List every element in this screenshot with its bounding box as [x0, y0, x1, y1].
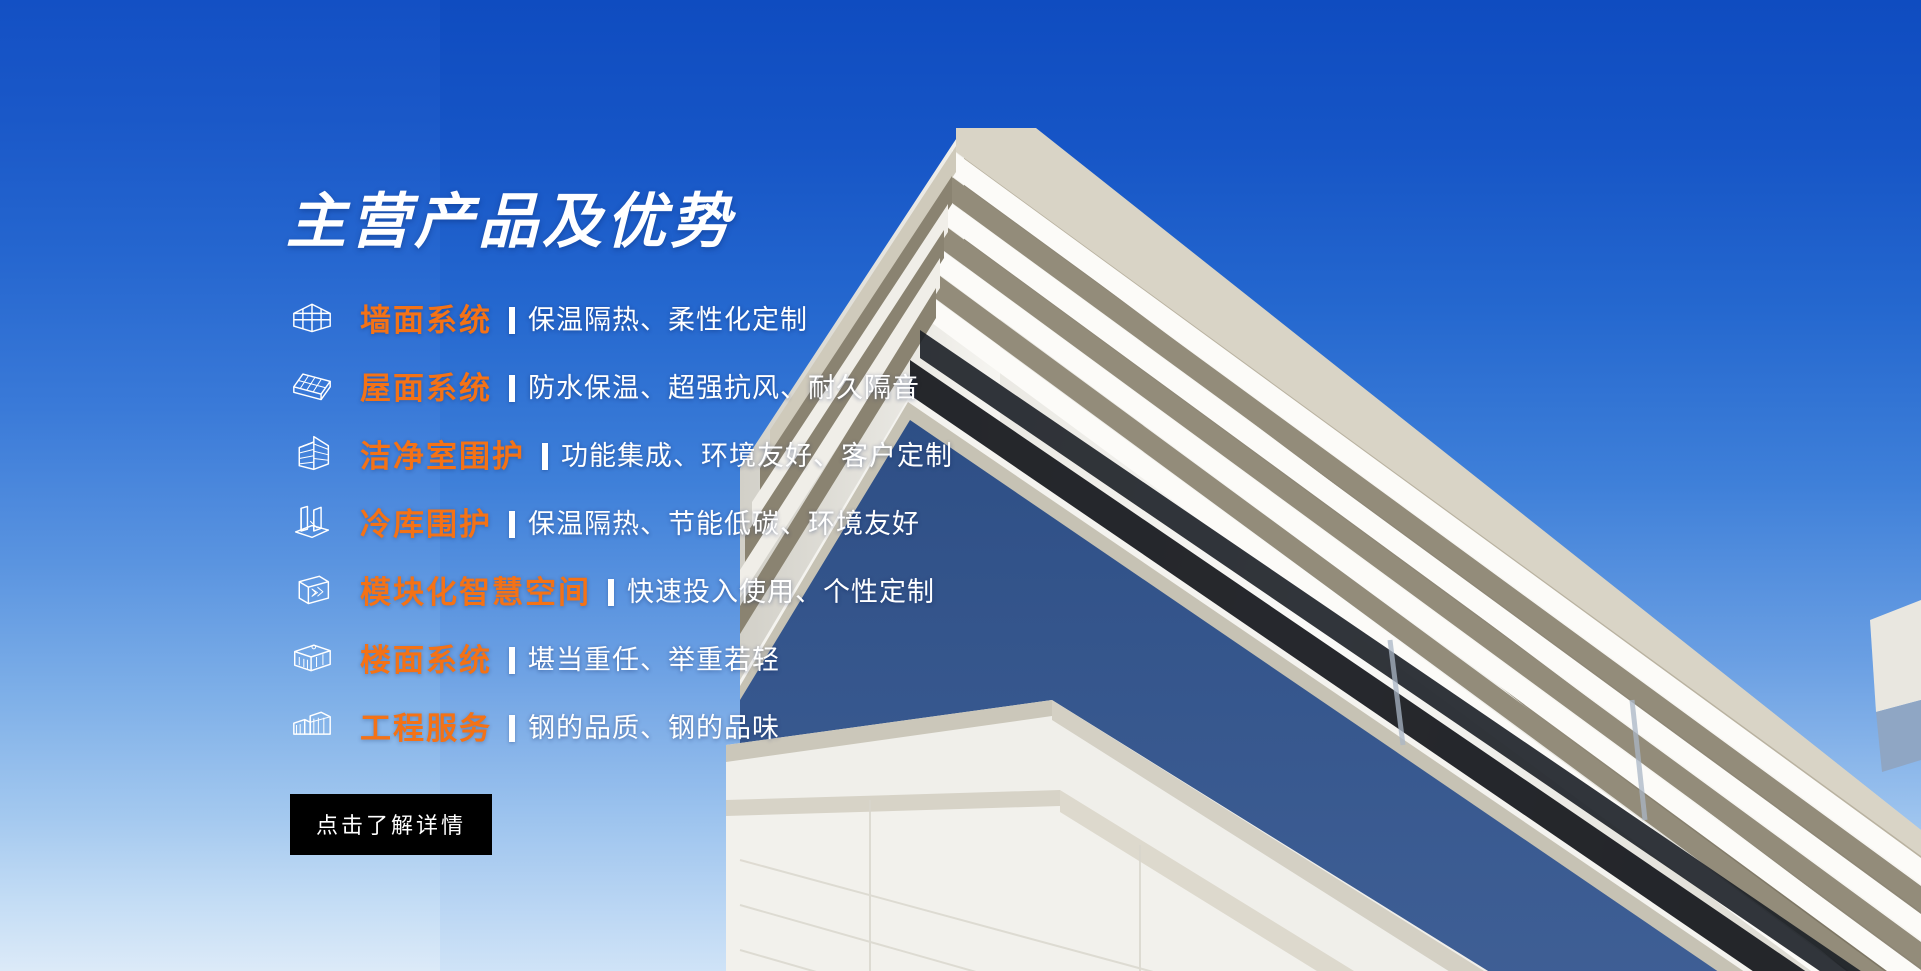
- hero-banner: 主营产品及优势 墙面系统 保温隔热、柔性化定制: [0, 0, 1921, 971]
- learn-more-button[interactable]: 点击了解详情: [290, 794, 492, 855]
- separator-bar: [509, 647, 515, 674]
- separator-bar: [509, 715, 515, 742]
- product-row-wall-system[interactable]: 墙面系统 保温隔热、柔性化定制: [286, 283, 1206, 351]
- product-list: 墙面系统 保温隔热、柔性化定制 屋面系统: [286, 283, 1206, 759]
- roof-panel-icon: [286, 362, 338, 408]
- product-description: 快速投入使用、个性定制: [627, 570, 935, 609]
- product-category: 墙面系统: [360, 295, 492, 340]
- separator-bar: [509, 511, 515, 538]
- product-category: 冷库围护: [360, 499, 492, 544]
- separator-bar: [542, 443, 548, 470]
- product-description: 保温隔热、柔性化定制: [528, 298, 808, 337]
- product-category: 楼面系统: [360, 635, 492, 680]
- product-category: 工程服务: [360, 703, 492, 748]
- modular-cube-icon: [286, 566, 338, 612]
- product-row-modular-space[interactable]: 模块化智慧空间 快速投入使用、个性定制: [286, 555, 1206, 623]
- page-title: 主营产品及优势: [286, 190, 1206, 253]
- separator-bar: [608, 579, 614, 606]
- separator-bar: [509, 307, 515, 334]
- product-row-engineering-service[interactable]: 工程服务 钢的品质、钢的品味: [286, 691, 1206, 759]
- product-description: 堪当重任、举重若轻: [528, 638, 780, 677]
- product-description: 功能集成、环境友好、客户定制: [561, 434, 953, 473]
- cold-storage-panels-icon: [286, 498, 338, 544]
- product-description: 防水保温、超强抗风、耐久隔音: [528, 366, 920, 405]
- hero-content: 主营产品及优势 墙面系统 保温隔热、柔性化定制: [286, 190, 1206, 855]
- cleanroom-building-icon: [286, 430, 338, 476]
- product-row-cold-storage[interactable]: 冷库围护 保温隔热、节能低碳、环境友好: [286, 487, 1206, 555]
- product-row-roof-system[interactable]: 屋面系统 防水保温、超强抗风、耐久隔音: [286, 351, 1206, 419]
- factory-complex-icon: [286, 702, 338, 748]
- product-description: 钢的品质、钢的品味: [528, 706, 780, 745]
- product-category: 屋面系统: [360, 363, 492, 408]
- floor-deck-box-icon: [286, 634, 338, 680]
- product-description: 保温隔热、节能低碳、环境友好: [528, 502, 920, 541]
- separator-bar: [509, 375, 515, 402]
- product-category: 模块化智慧空间: [360, 567, 591, 612]
- product-row-floor-system[interactable]: 楼面系统 堪当重任、举重若轻: [286, 623, 1206, 691]
- product-row-cleanroom[interactable]: 洁净室围护 功能集成、环境友好、客户定制: [286, 419, 1206, 487]
- product-category: 洁净室围护: [360, 431, 525, 476]
- wall-frame-icon: [286, 294, 338, 340]
